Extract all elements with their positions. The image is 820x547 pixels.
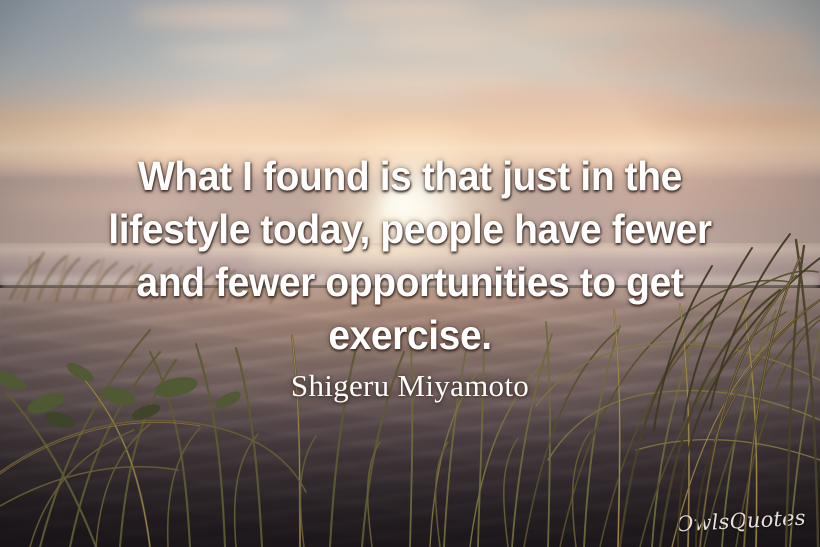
quote-image: What I found is that just in the lifesty… — [0, 0, 820, 547]
grass-foreground-layer — [0, 0, 820, 547]
